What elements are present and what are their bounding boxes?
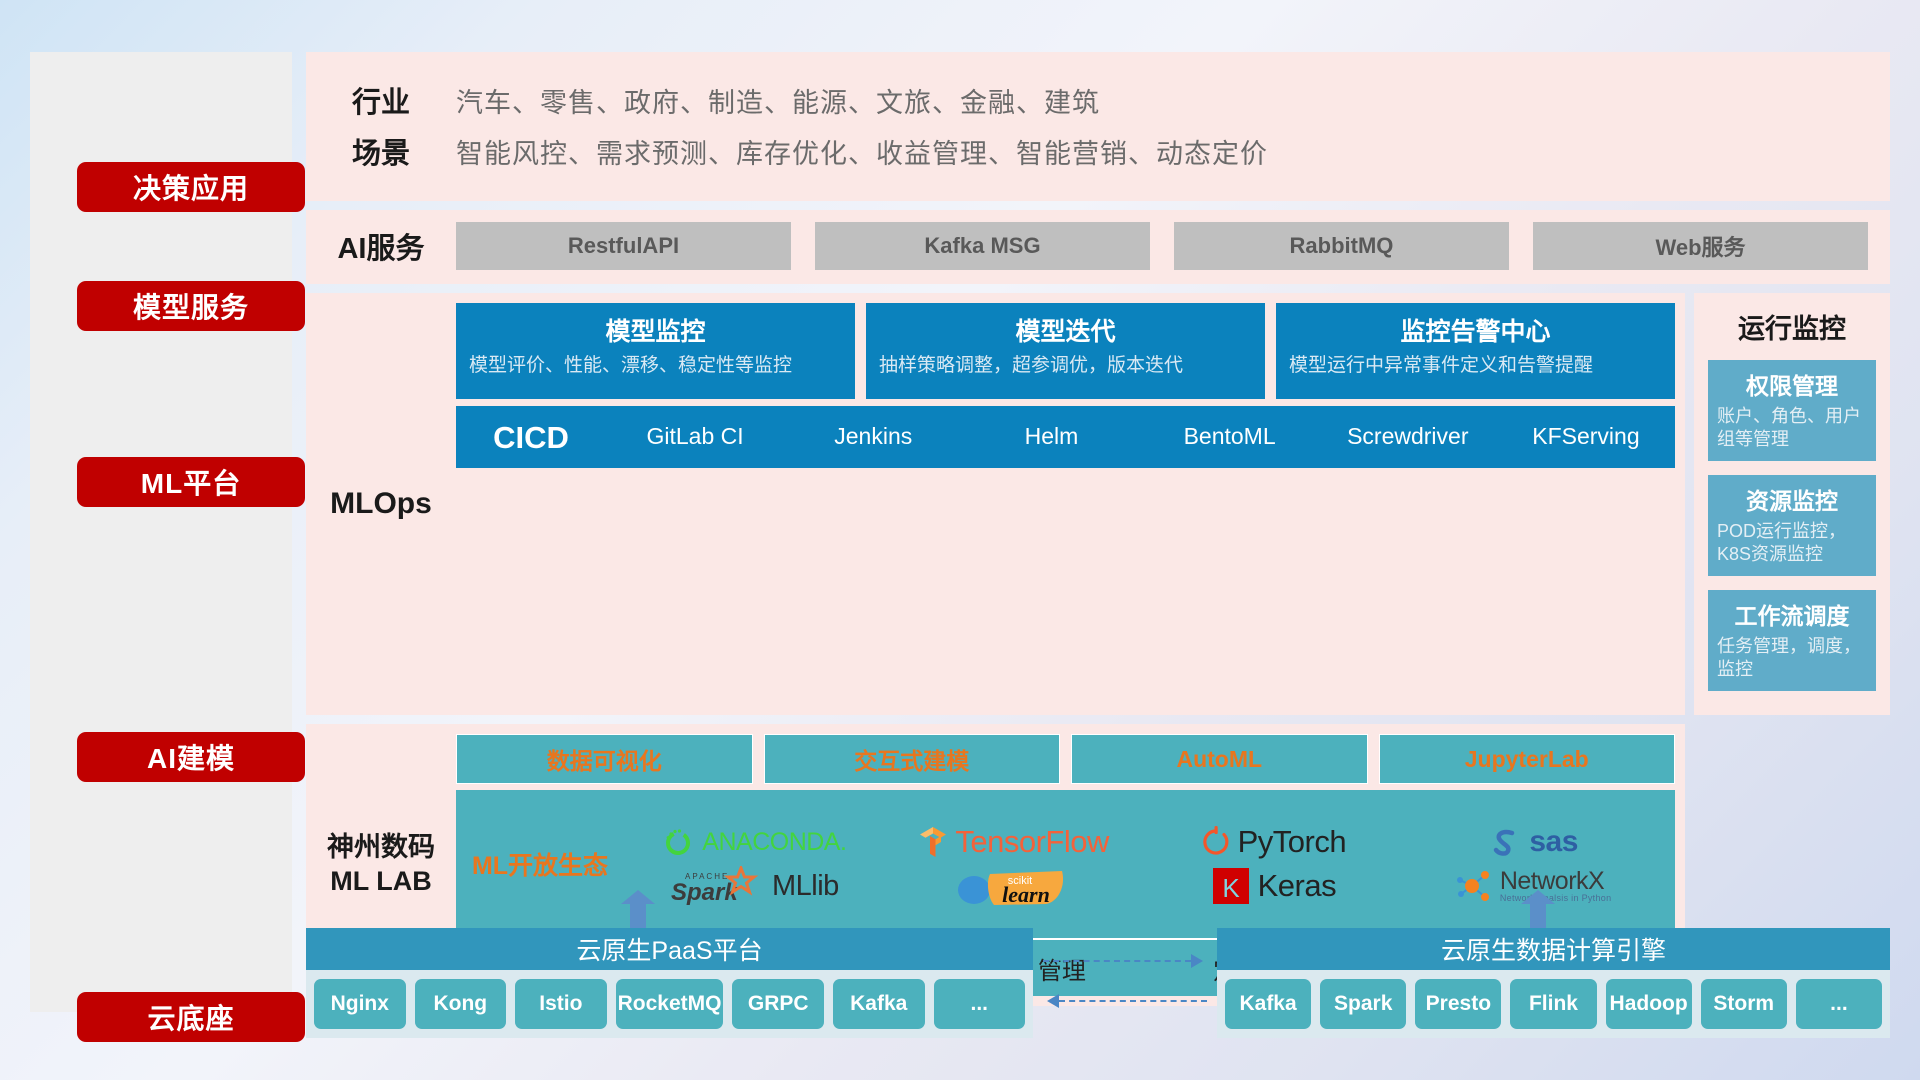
cicd-item-helm[interactable]: Helm — [962, 406, 1140, 451]
compute-chip-hadoop[interactable]: Hadoop — [1606, 979, 1692, 1029]
card-desc: 抽样策略调整，超参调优，版本迭代 — [879, 354, 1252, 379]
ai-service-chip-kafka-msg[interactable]: Kafka MSG — [815, 222, 1150, 270]
ml-lab-label-line1: 神州数码 — [327, 831, 435, 865]
architecture-diagram: 决策应用 模型服务 ML平台 AI建模 云底座 行业 汽车、零售、政府、制造、能… — [0, 0, 1920, 1080]
mlops-card-list: 模型监控 模型评价、性能、漂移、稳定性等监控 模型迭代 抽样策略调整，超参调优，… — [456, 303, 1675, 399]
cicd-item-jenkins[interactable]: Jenkins — [784, 406, 962, 451]
scenario-label: 场景 — [306, 130, 456, 172]
ml-platform-row: MLOps 模型监控 模型评价、性能、漂移、稳定性等监控 模型迭代 抽样策略调整… — [306, 293, 1890, 715]
arrow-up-to-platform-left — [621, 890, 655, 928]
rail-tag-ai-modeling[interactable]: AI建模 — [77, 732, 305, 782]
cicd-label: CICD — [456, 406, 606, 456]
anaconda-logo-text: ANACONDA. — [702, 828, 846, 857]
ai-service-label: AI服务 — [306, 225, 456, 267]
tool-data-visualization[interactable]: 数据可视化 — [456, 734, 753, 784]
compute-chip-presto[interactable]: Presto — [1415, 979, 1501, 1029]
rail-tag-ml-platform[interactable]: ML平台 — [77, 457, 305, 507]
card-title: 模型迭代 — [879, 312, 1252, 348]
rail-tag-model-service[interactable]: 模型服务 — [77, 281, 305, 331]
cicd-strip: CICD GitLab CI Jenkins Helm BentoML Scre… — [456, 406, 1675, 468]
runtime-monitor-panel: 运行监控 权限管理 账户、角色、用户组等管理 资源监控 POD运行监控，K8S资… — [1694, 293, 1890, 715]
mlops-card-alert-center[interactable]: 监控告警中心 模型运行中异常事件定义和告警提醒 — [1276, 303, 1675, 399]
compute-chip-more[interactable]: ... — [1796, 979, 1882, 1029]
monitor-card-permission[interactable]: 权限管理 账户、角色、用户组等管理 — [1708, 360, 1876, 461]
sas-logo: sas — [1488, 825, 1578, 859]
card-title: 监控告警中心 — [1289, 312, 1662, 348]
compute-chip-spark[interactable]: Spark — [1320, 979, 1406, 1029]
rail-tag-cloud-foundation[interactable]: 云底座 — [77, 992, 305, 1042]
tensorflow-logo-text: TensorFlow — [955, 824, 1109, 860]
compute-engine-group: 云原生数据计算引擎 Kafka Spark Presto Flink Hadoo… — [1217, 928, 1890, 1038]
card-desc: 模型评价、性能、漂移、稳定性等监控 — [469, 354, 842, 379]
card-title: 权限管理 — [1717, 367, 1867, 401]
industry-row: 行业 汽车、零售、政府、制造、能源、文旅、金融、建筑 — [306, 79, 1890, 121]
sas-logo-text: sas — [1529, 825, 1578, 859]
tool-automl[interactable]: AutoML — [1071, 734, 1368, 784]
industry-value: 汽车、零售、政府、制造、能源、文旅、金融、建筑 — [456, 81, 1100, 120]
industry-label: 行业 — [306, 79, 456, 121]
arrow-up-to-platform-right — [1521, 890, 1555, 928]
card-desc: POD运行监控，K8S资源监控 — [1717, 520, 1867, 566]
cicd-item-bentoml[interactable]: BentoML — [1141, 406, 1319, 451]
cloud-foundation: 云原生PaaS平台 Nginx Kong Istio RocketMQ GRPC… — [306, 890, 1890, 1040]
scenario-row: 场景 智能风控、需求预测、库存优化、收益管理、智能营销、动态定价 — [306, 130, 1890, 172]
paas-chip-grpc[interactable]: GRPC — [732, 979, 824, 1029]
monitor-card-workflow[interactable]: 工作流调度 任务管理，调度，监控 — [1708, 590, 1876, 691]
monitor-card-resource[interactable]: 资源监控 POD运行监控，K8S资源监控 — [1708, 475, 1876, 576]
card-desc: 模型运行中异常事件定义和告警提醒 — [1289, 354, 1662, 379]
mlops-body: 模型监控 模型评价、性能、漂移、稳定性等监控 模型迭代 抽样策略调整，超参调优，… — [456, 303, 1685, 705]
compute-engine-title: 云原生数据计算引擎 — [1217, 928, 1890, 970]
main-column: 行业 汽车、零售、政府、制造、能源、文旅、金融、建筑 场景 智能风控、需求预测、… — [306, 52, 1890, 1006]
mlops-band: MLOps 模型监控 模型评价、性能、漂移、稳定性等监控 模型迭代 抽样策略调整… — [306, 293, 1685, 715]
ml-open-ecosystem-label: ML开放生态 — [456, 846, 624, 882]
paas-chip-list: Nginx Kong Istio RocketMQ GRPC Kafka ... — [306, 970, 1033, 1038]
mlops-label: MLOps — [306, 303, 456, 705]
paas-chip-kong[interactable]: Kong — [415, 979, 507, 1029]
paas-chip-rocketmq[interactable]: RocketMQ — [616, 979, 724, 1029]
card-title: 模型监控 — [469, 312, 842, 348]
card-desc: 账户、角色、用户组等管理 — [1717, 405, 1867, 451]
layer-rail: 决策应用 模型服务 ML平台 AI建模 云底座 — [30, 52, 292, 1012]
mlops-card-model-iteration[interactable]: 模型迭代 抽样策略调整，超参调优，版本迭代 — [866, 303, 1265, 399]
cicd-item-gitlab-ci[interactable]: GitLab CI — [606, 406, 784, 451]
card-desc: 任务管理，调度，监控 — [1717, 635, 1867, 681]
rail-tag-decision-apps[interactable]: 决策应用 — [77, 162, 305, 212]
ai-service-chip-web-service[interactable]: Web服务 — [1533, 222, 1868, 270]
paas-chip-nginx[interactable]: Nginx — [314, 979, 406, 1029]
paas-group: 云原生PaaS平台 Nginx Kong Istio RocketMQ GRPC… — [306, 928, 1033, 1038]
card-title: 资源监控 — [1717, 482, 1867, 516]
ai-service-band: AI服务 RestfulAPI Kafka MSG RabbitMQ Web服务 — [306, 210, 1890, 284]
compute-chip-flink[interactable]: Flink — [1510, 979, 1596, 1029]
ai-service-chip-restfulapi[interactable]: RestfulAPI — [456, 222, 791, 270]
pytorch-logo-text: PyTorch — [1238, 824, 1346, 860]
pytorch-logo: PyTorch — [1201, 824, 1346, 860]
paas-chip-more[interactable]: ... — [934, 979, 1026, 1029]
card-title: 工作流调度 — [1717, 597, 1867, 631]
paas-title: 云原生PaaS平台 — [306, 928, 1033, 970]
mlops-card-model-monitoring[interactable]: 模型监控 模型评价、性能、漂移、稳定性等监控 — [456, 303, 855, 399]
cicd-item-screwdriver[interactable]: Screwdriver — [1319, 406, 1497, 451]
tool-jupyterlab[interactable]: JupyterLab — [1379, 734, 1676, 784]
tool-interactive-modeling[interactable]: 交互式建模 — [764, 734, 1061, 784]
ml-lab-tool-list: 数据可视化 交互式建模 AutoML JupyterLab — [456, 734, 1675, 784]
anaconda-logo: ANACONDA. — [661, 825, 846, 859]
runtime-monitor-title: 运行监控 — [1708, 307, 1876, 346]
compute-chip-kafka[interactable]: Kafka — [1225, 979, 1311, 1029]
paas-chip-istio[interactable]: Istio — [515, 979, 607, 1029]
decision-applications-band: 行业 汽车、零售、政府、制造、能源、文旅、金融、建筑 场景 智能风控、需求预测、… — [306, 52, 1890, 201]
scenario-value: 智能风控、需求预测、库存优化、收益管理、智能营销、动态定价 — [456, 132, 1268, 171]
compute-engine-chip-list: Kafka Spark Presto Flink Hadoop Storm ..… — [1217, 970, 1890, 1038]
tensorflow-logo: TensorFlow — [918, 824, 1109, 860]
cicd-item-kfserving[interactable]: KFServing — [1497, 406, 1675, 451]
compute-chip-storm[interactable]: Storm — [1701, 979, 1787, 1029]
ai-service-chip-list: RestfulAPI Kafka MSG RabbitMQ Web服务 — [456, 222, 1890, 270]
ai-service-chip-rabbitmq[interactable]: RabbitMQ — [1174, 222, 1509, 270]
paas-chip-kafka[interactable]: Kafka — [833, 979, 925, 1029]
